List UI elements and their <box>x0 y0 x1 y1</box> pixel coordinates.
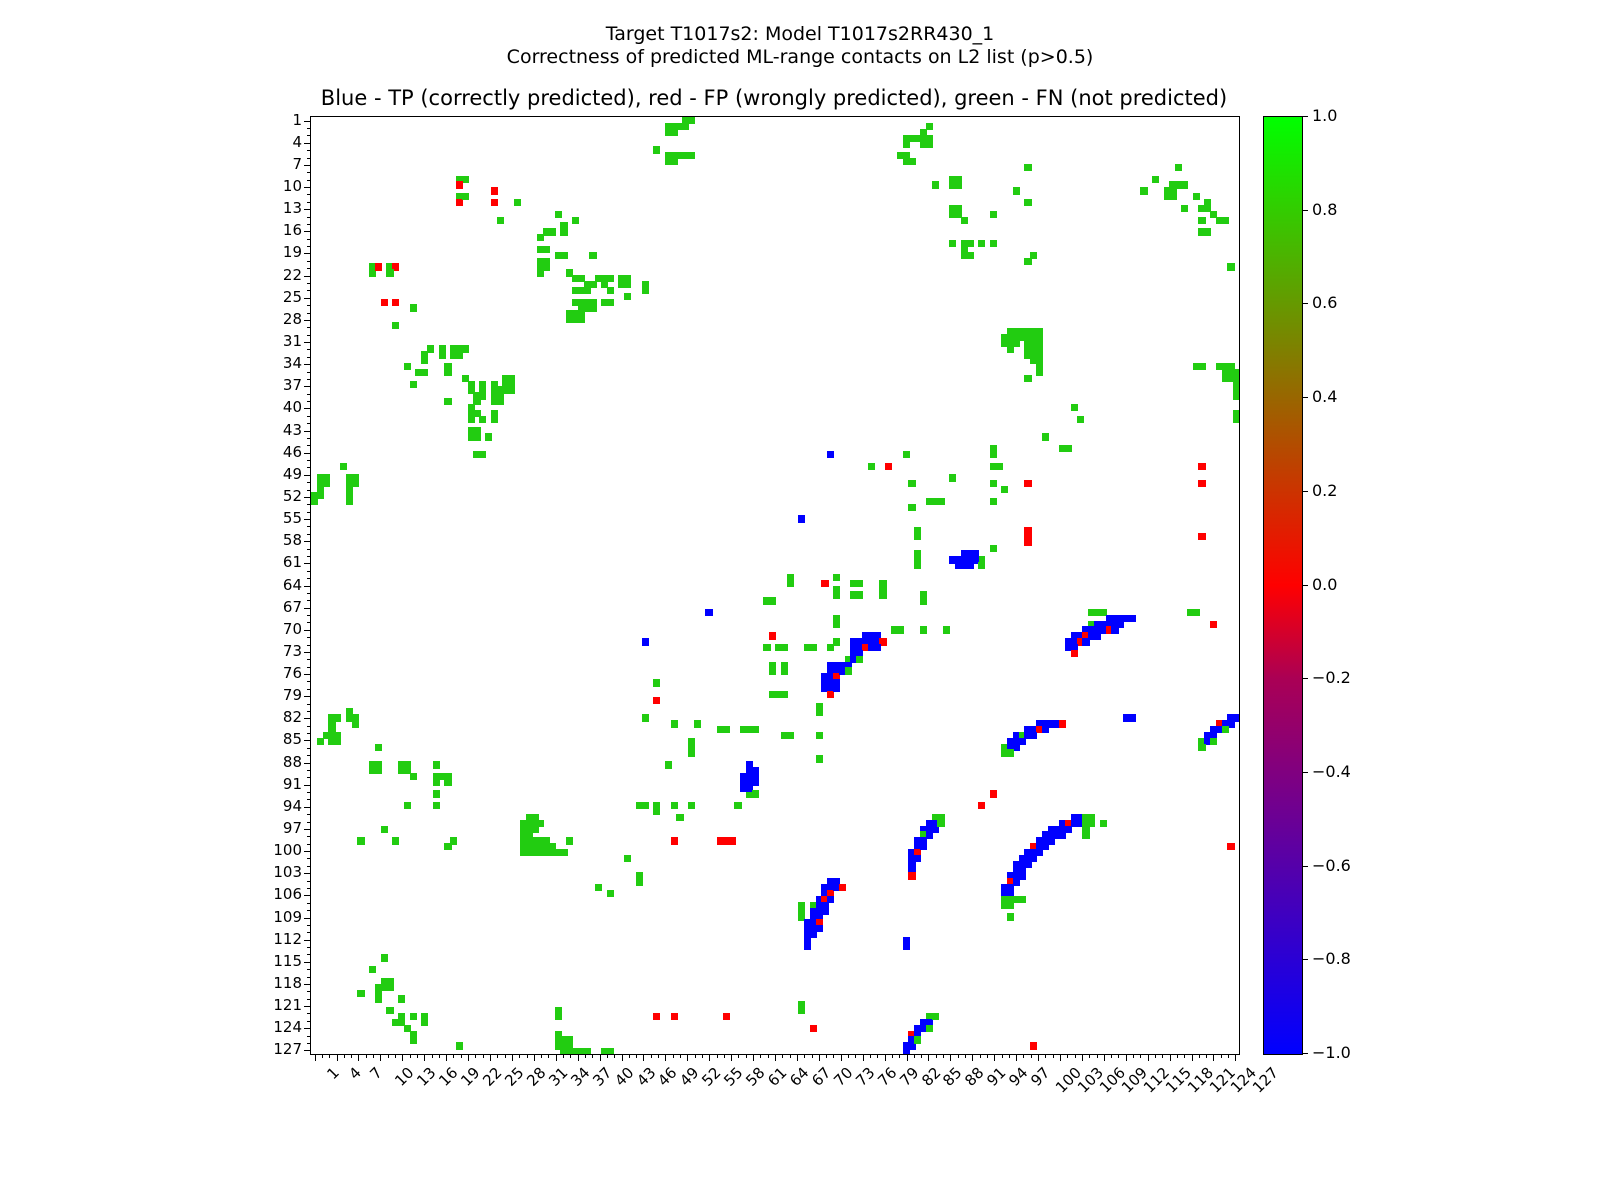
y-tick-minor <box>307 1021 311 1022</box>
y-tick-minor <box>307 313 311 314</box>
y-tick-minor <box>307 1043 311 1044</box>
y-tick-major <box>304 918 311 919</box>
y-tick-minor <box>307 704 311 705</box>
contact-cell-tp <box>1082 638 1089 645</box>
contact-cells-layer <box>311 117 1239 1054</box>
contact-cell-fn <box>856 591 863 598</box>
contact-cell-fn <box>1001 486 1008 493</box>
contact-cell-fn-mirror <box>444 369 451 376</box>
contact-cell-fn-mirror <box>978 240 985 247</box>
contact-cell-tp-mirror <box>827 896 834 903</box>
y-tick-major <box>304 519 311 520</box>
contact-cell-tp <box>1129 615 1136 622</box>
y-tick-minor <box>307 305 311 306</box>
contact-cell-fp <box>1071 650 1078 657</box>
contact-cell-fn <box>1152 176 1159 183</box>
contact-cell-fp <box>1059 720 1066 727</box>
y-tick-label: 16 <box>283 223 302 238</box>
contact-cell-fn-mirror <box>908 480 915 487</box>
y-tick-minor <box>307 467 311 468</box>
y-tick-minor <box>307 726 311 727</box>
colorbar-tick-label: −1.0 <box>1312 1045 1351 1061</box>
contact-cell-fn-mirror <box>845 667 852 674</box>
contact-cell-fp <box>729 837 736 844</box>
contact-cell-fn <box>456 351 463 358</box>
y-tick-minor <box>307 423 311 424</box>
contact-cell-fn-mirror <box>618 281 625 288</box>
contact-cell-fn <box>879 591 886 598</box>
y-tick-minor <box>307 622 311 623</box>
contact-cell-fn-mirror <box>665 761 672 768</box>
y-tick-minor <box>307 349 311 350</box>
contact-cell-fn-mirror <box>334 738 341 745</box>
contact-cell-fn <box>787 580 794 587</box>
y-tick-major <box>304 851 311 852</box>
contact-cell-fn-mirror <box>357 990 364 997</box>
y-tick-minor <box>307 261 311 262</box>
y-tick-label: 88 <box>283 755 302 770</box>
y-tick-minor <box>307 394 311 395</box>
contact-cell-fp <box>1198 480 1205 487</box>
y-tick-minor <box>307 357 311 358</box>
contact-cell-fn-mirror <box>1024 199 1031 206</box>
contact-cell-fn <box>433 790 440 797</box>
contact-cell-fn <box>375 744 382 751</box>
contact-cell-fn <box>1198 744 1205 751</box>
contact-cell-fn <box>1193 609 1200 616</box>
contact-cell-fn <box>1007 749 1014 756</box>
contact-cell-fn <box>1222 726 1229 733</box>
y-tick-minor <box>307 947 311 948</box>
contact-cell-fn-mirror <box>653 808 660 815</box>
y-tick-label: 70 <box>283 622 302 637</box>
contact-cell-fn <box>752 726 759 733</box>
contact-cell-fn <box>566 837 573 844</box>
contact-cell-fn <box>1175 164 1182 171</box>
colorbar-tick <box>1302 116 1308 117</box>
contact-cell-fn-mirror <box>769 667 776 674</box>
y-tick-minor <box>307 689 311 690</box>
contact-cell-fn-mirror <box>688 802 695 809</box>
y-tick-label: 61 <box>283 555 302 570</box>
y-tick-major <box>304 962 311 963</box>
contact-cell-fn-mirror <box>386 1007 393 1014</box>
y-tick-minor <box>307 866 311 867</box>
y-tick-minor <box>307 128 311 129</box>
colorbar-tick-label: 1.0 <box>1312 108 1337 124</box>
contact-cell-fp-mirror <box>1030 1042 1037 1049</box>
y-tick-minor <box>307 1013 311 1014</box>
contact-cell-fn-mirror <box>1013 187 1020 194</box>
contact-cell-fn <box>671 720 678 727</box>
colorbar-tick <box>1302 397 1308 398</box>
contact-cell-fn <box>937 498 944 505</box>
contact-cell-fn <box>1100 820 1107 827</box>
contact-cell-tp-mirror <box>903 943 910 950</box>
y-tick-minor <box>307 549 311 550</box>
y-tick-minor <box>307 512 311 513</box>
y-tick-label: 43 <box>283 423 302 438</box>
y-tick-label: 73 <box>283 644 302 659</box>
contact-cell-fp <box>456 181 463 188</box>
y-tick-minor <box>307 1036 311 1037</box>
contact-cell-fn <box>1140 187 1147 194</box>
colorbar-gradient <box>1263 116 1303 1055</box>
contact-cell-fn-mirror <box>653 679 660 686</box>
contact-cell-fn <box>410 773 417 780</box>
contact-cell-fn <box>990 545 997 552</box>
contact-cell-tp-mirror <box>705 609 712 616</box>
contact-cell-fn-mirror <box>932 1013 939 1020</box>
contact-cell-fp-mirror <box>908 872 915 879</box>
y-tick-label: 115 <box>273 954 302 969</box>
contact-cell-fn <box>1227 263 1234 270</box>
contact-cell-fn-mirror <box>920 597 927 604</box>
contact-cell-fp <box>491 187 498 194</box>
contact-cell-fn-mirror <box>966 240 973 247</box>
colorbar-tick-label: 0.8 <box>1312 202 1337 218</box>
contact-cell-fn <box>381 826 388 833</box>
colorbar-tick-label: −0.2 <box>1312 670 1351 686</box>
y-tick-minor <box>307 224 311 225</box>
y-tick-minor <box>307 903 311 904</box>
contact-cell-fn <box>1169 193 1176 200</box>
x-tick-label: 7 <box>368 1065 385 1082</box>
contact-cell-fn-mirror <box>607 299 614 306</box>
y-tick-label: 64 <box>283 578 302 593</box>
y-tick-label: 124 <box>273 1020 302 1035</box>
contact-cell-tp <box>798 515 805 522</box>
contact-cell-fn <box>549 228 556 235</box>
contact-cell-fn-mirror <box>456 1042 463 1049</box>
contact-cell-fn <box>990 451 997 458</box>
x-axis-tick-labels: 1471013161922252831343740434649525558616… <box>310 1053 1270 1123</box>
contact-cell-fp-mirror <box>978 802 985 809</box>
colorbar-tick-label: −0.4 <box>1312 764 1351 780</box>
contact-cell-fn-mirror <box>410 1013 417 1020</box>
contact-cell-fn <box>694 720 701 727</box>
contact-cell-fn <box>444 398 451 405</box>
y-tick-minor <box>307 158 311 159</box>
y-tick-minor <box>307 844 311 845</box>
contact-cell-fn <box>995 463 1002 470</box>
x-tick-label: 127 <box>1251 1065 1282 1096</box>
contact-cell-fn <box>1198 363 1205 370</box>
contact-cell-fn-mirror <box>734 802 741 809</box>
contact-cell-fn <box>978 562 985 569</box>
y-tick-major <box>304 740 311 741</box>
y-tick-label: 37 <box>283 378 302 393</box>
contact-cell-fp-mirror <box>671 1013 678 1020</box>
y-tick-label: 121 <box>273 998 302 1013</box>
contact-cell-fn-mirror <box>642 802 649 809</box>
contact-cell-fn <box>1181 205 1188 212</box>
y-tick-minor <box>307 202 311 203</box>
y-tick-label: 22 <box>283 268 302 283</box>
y-tick-minor <box>307 881 311 882</box>
contact-cell-fp-mirror <box>1024 480 1031 487</box>
x-tick-label: 4 <box>346 1065 363 1082</box>
y-tick-minor <box>307 172 311 173</box>
y-tick-label: 34 <box>283 356 302 371</box>
y-tick-minor <box>307 822 311 823</box>
contact-cell-fn <box>421 369 428 376</box>
contact-cell-fn <box>468 416 475 423</box>
contact-cell-fp-mirror <box>375 263 382 270</box>
contact-cell-fp-mirror <box>653 1013 660 1020</box>
contact-cell-fp <box>885 463 892 470</box>
contact-cell-fn <box>943 626 950 633</box>
contact-cell-fn-mirror <box>688 152 695 159</box>
y-tick-label: 79 <box>283 688 302 703</box>
colorbar-tick-label: 0.6 <box>1312 295 1337 311</box>
y-tick-major <box>304 718 311 719</box>
y-tick-major <box>304 408 311 409</box>
colorbar-tick-label: −0.6 <box>1312 858 1351 874</box>
contact-cell-fn <box>949 474 956 481</box>
contact-cell-fn-mirror <box>688 749 695 756</box>
y-tick-label: 28 <box>283 312 302 327</box>
y-tick-label: 25 <box>283 290 302 305</box>
contact-cell-fn-mirror <box>966 252 973 259</box>
contact-cell-fn-mirror <box>572 287 579 294</box>
contact-cell-fn <box>444 779 451 786</box>
contact-cell-fp <box>821 580 828 587</box>
contact-cell-fn <box>908 158 915 165</box>
contact-cell-fn-mirror <box>769 597 776 604</box>
contact-cell-fn-mirror <box>1042 433 1049 440</box>
y-tick-major <box>304 873 311 874</box>
contact-cell-tp-mirror <box>752 779 759 786</box>
y-tick-label: 103 <box>273 865 302 880</box>
contact-cell-fn <box>723 726 730 733</box>
contact-cell-fn <box>410 381 417 388</box>
y-axis-tick-labels: 1471013161922252831343740434649525558616… <box>248 116 302 1053</box>
y-tick-label: 91 <box>283 777 302 792</box>
y-tick-minor <box>307 755 311 756</box>
y-tick-minor <box>307 239 311 240</box>
contact-cell-fn-mirror <box>421 357 428 364</box>
contact-cell-fn <box>1233 416 1239 423</box>
contact-cell-fn <box>642 714 649 721</box>
contact-cell-fn-mirror <box>381 954 388 961</box>
contact-cell-fn-mirror <box>555 1013 562 1020</box>
contact-cell-fn-mirror <box>816 708 823 715</box>
contact-cell-fp <box>1198 463 1205 470</box>
y-tick-label: 82 <box>283 710 302 725</box>
contact-cell-fn-mirror <box>914 1036 921 1043</box>
contact-cell-fn <box>485 433 492 440</box>
contact-cell-fn <box>624 855 631 862</box>
contact-cell-fn-mirror <box>914 533 921 540</box>
contact-cell-fn-mirror <box>990 240 997 247</box>
contact-cell-fn <box>462 375 469 382</box>
contact-cell-fp-mirror <box>769 632 776 639</box>
contact-cell-fn-mirror <box>1024 164 1031 171</box>
y-tick-minor <box>307 180 311 181</box>
contact-cell-fn-mirror <box>595 884 602 891</box>
y-tick-label: 109 <box>273 910 302 925</box>
y-tick-minor <box>307 194 311 195</box>
contact-cell-fn-mirror <box>479 392 486 399</box>
contact-cell-fn <box>856 580 863 587</box>
contact-cell-fn <box>357 837 364 844</box>
y-tick-label: 10 <box>283 179 302 194</box>
y-tick-major <box>304 563 311 564</box>
contact-cell-fn <box>433 802 440 809</box>
y-tick-minor <box>307 733 311 734</box>
y-tick-major <box>304 187 311 188</box>
contact-cell-fp-mirror <box>491 199 498 206</box>
contact-cell-fp-mirror <box>723 1013 730 1020</box>
y-tick-label: 112 <box>273 932 302 947</box>
y-tick-major <box>304 785 311 786</box>
y-tick-major <box>304 696 311 697</box>
contact-cell-fn <box>1071 404 1078 411</box>
contact-cell-fn-mirror <box>937 820 944 827</box>
y-tick-major <box>304 763 311 764</box>
contact-cell-fn-mirror <box>1036 369 1043 376</box>
y-tick-label: 19 <box>283 245 302 260</box>
y-tick-label: 85 <box>283 732 302 747</box>
contact-cell-fn-mirror <box>676 814 683 821</box>
contact-cell-fn <box>479 451 486 458</box>
contact-cell-fp <box>1198 533 1205 540</box>
y-tick-major <box>304 1006 311 1007</box>
contact-cell-fn-mirror <box>334 714 341 721</box>
y-tick-minor <box>307 482 311 483</box>
contact-cell-fn <box>392 837 399 844</box>
contact-cell-fn-mirror <box>990 211 997 218</box>
y-tick-minor <box>307 335 311 336</box>
contact-cell-fn-mirror <box>816 755 823 762</box>
contact-cell-fn <box>346 498 353 505</box>
y-tick-minor <box>307 217 311 218</box>
y-tick-label: 46 <box>283 445 302 460</box>
contact-cell-fn <box>543 246 550 253</box>
y-tick-major <box>304 165 311 166</box>
contact-cell-fn-mirror <box>560 228 567 235</box>
contact-map-figure: Target T1017s2: Model T1017s2RR430_1 Cor… <box>0 0 1600 1200</box>
y-tick-major <box>304 298 311 299</box>
contact-cell-fn-mirror <box>798 1007 805 1014</box>
y-tick-label: 13 <box>283 201 302 216</box>
y-tick-minor <box>307 283 311 284</box>
contact-cell-fn <box>433 779 440 786</box>
contact-cell-tp-mirror <box>833 685 840 692</box>
y-tick-label: 94 <box>283 799 302 814</box>
y-tick-label: 52 <box>283 489 302 504</box>
contact-cell-fn-mirror <box>1019 896 1026 903</box>
contact-cell-fn-mirror <box>816 732 823 739</box>
contact-cell-fn <box>584 287 591 294</box>
contact-cell-tp-mirror <box>804 943 811 950</box>
contact-cell-fn-mirror <box>386 984 393 991</box>
y-tick-label: 31 <box>283 334 302 349</box>
y-tick-minor <box>307 999 311 1000</box>
contact-cell-fn-mirror <box>1024 375 1031 382</box>
contact-cell-fn <box>1193 193 1200 200</box>
y-tick-major <box>304 342 311 343</box>
contact-cell-fn-mirror <box>653 146 660 153</box>
contact-cell-fn-mirror <box>903 451 910 458</box>
y-tick-minor <box>307 777 311 778</box>
y-tick-label: 7 <box>292 157 302 172</box>
y-tick-major <box>304 1028 311 1029</box>
y-tick-minor <box>307 991 311 992</box>
contact-cell-fn <box>375 767 382 774</box>
contact-cell-fn-mirror <box>752 790 759 797</box>
contact-cell-fn <box>810 644 817 651</box>
contact-cell-fn-mirror <box>508 386 515 393</box>
y-tick-major <box>304 143 311 144</box>
y-tick-minor <box>307 445 311 446</box>
y-tick-minor <box>307 460 311 461</box>
y-tick-major <box>304 453 311 454</box>
y-tick-minor <box>307 969 311 970</box>
y-tick-minor <box>307 858 311 859</box>
colorbar-tick <box>1302 491 1308 492</box>
contact-cell-fn-mirror <box>688 117 695 124</box>
y-tick-major <box>304 608 311 609</box>
contact-cell-fn-mirror <box>369 966 376 973</box>
contact-cell-fn-mirror <box>781 691 788 698</box>
contact-cell-fn <box>514 199 521 206</box>
plot-legend-title: Blue - TP (correctly predicted), red - F… <box>310 86 1238 110</box>
y-tick-minor <box>307 379 311 380</box>
contact-cell-fn <box>555 211 562 218</box>
y-tick-major <box>304 320 311 321</box>
y-tick-major <box>304 497 311 498</box>
y-tick-label: 127 <box>273 1042 302 1057</box>
y-tick-minor <box>307 578 311 579</box>
y-tick-minor <box>307 925 311 926</box>
colorbar-tick-label: −0.8 <box>1312 951 1351 967</box>
y-tick-minor <box>307 681 311 682</box>
y-tick-major <box>304 276 311 277</box>
contact-cell-tp <box>1042 726 1049 733</box>
contact-cell-fn <box>473 427 480 434</box>
y-tick-label: 40 <box>283 400 302 415</box>
contact-cell-fn-mirror <box>589 252 596 259</box>
contact-cell-fn-mirror <box>833 621 840 628</box>
contact-cell-fp-mirror <box>810 1025 817 1032</box>
contact-cell-fn <box>868 463 875 470</box>
y-tick-minor <box>307 135 311 136</box>
contact-cell-tp <box>874 644 881 651</box>
contact-cell-fn <box>578 316 585 323</box>
contact-cell-fn-mirror <box>392 322 399 329</box>
y-tick-minor <box>307 792 311 793</box>
contact-cell-fp <box>990 790 997 797</box>
contact-cell-tp-mirror <box>816 925 823 932</box>
contact-cell-tp-mirror <box>1019 872 1026 879</box>
contact-cell-fn <box>311 498 318 505</box>
y-tick-minor <box>307 667 311 668</box>
contact-cell-fp <box>1210 621 1217 628</box>
y-tick-minor <box>307 932 311 933</box>
figure-suptitle-line-2: Correctness of predicted ML-range contac… <box>0 44 1600 70</box>
contact-cell-tp <box>1129 714 1136 721</box>
contact-cell-fn <box>497 398 504 405</box>
contact-cell-tp <box>966 562 973 569</box>
y-tick-minor <box>307 814 311 815</box>
y-tick-minor <box>307 372 311 373</box>
y-tick-major <box>304 895 311 896</box>
contact-cell-fn-mirror <box>462 193 469 200</box>
contact-cell-fn <box>833 574 840 581</box>
contact-cell-fp-mirror <box>1024 539 1031 546</box>
